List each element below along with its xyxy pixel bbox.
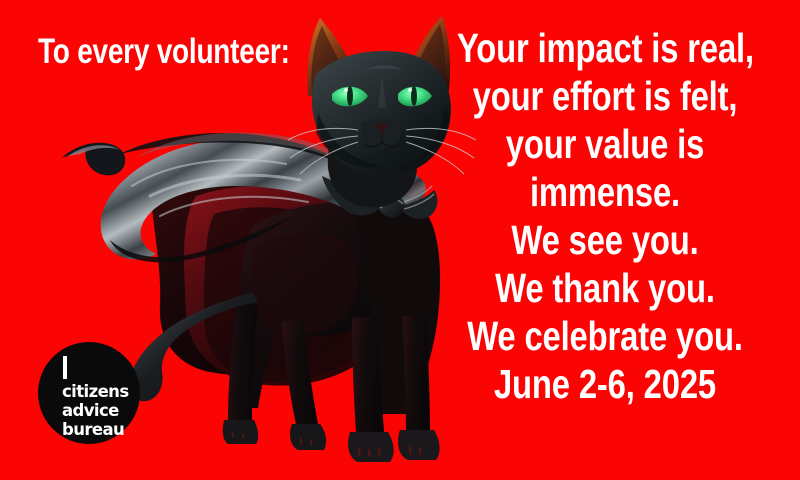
message-line-7: We celebrate you. bbox=[457, 312, 753, 360]
logo-wordmark: citizens advice bureau bbox=[62, 382, 129, 439]
cat-tail bbox=[130, 292, 258, 401]
message-line-1: Your impact is real, bbox=[457, 24, 753, 72]
logo-bar-mark bbox=[63, 356, 67, 379]
logo-line-citizens: citizens bbox=[62, 382, 129, 401]
cat-body bbox=[229, 182, 440, 414]
cat-legs bbox=[223, 300, 440, 462]
message-date-line: June 2-6, 2025 bbox=[457, 360, 753, 408]
message-line-2: your effort is felt, bbox=[457, 72, 753, 120]
logo-line-advice: advice bbox=[62, 401, 129, 420]
poster-canvas: To every volunteer: Your impact is real,… bbox=[0, 0, 800, 480]
citizens-advice-bureau-logo[interactable]: citizens advice bureau bbox=[38, 342, 140, 444]
cape-front bbox=[62, 133, 382, 263]
message-block: Your impact is real, your effort is felt… bbox=[420, 24, 790, 408]
message-line-6: We thank you. bbox=[457, 264, 753, 312]
cat-eye-left bbox=[332, 86, 368, 106]
message-line-5: We see you. bbox=[457, 216, 753, 264]
cape-back bbox=[150, 146, 401, 385]
cat-neck bbox=[328, 120, 417, 207]
message-line-3: your value is bbox=[457, 120, 753, 168]
message-line-4: immense. bbox=[457, 168, 753, 216]
logo-line-bureau: bureau bbox=[62, 420, 129, 439]
headline-text: To every volunteer: bbox=[38, 34, 278, 71]
